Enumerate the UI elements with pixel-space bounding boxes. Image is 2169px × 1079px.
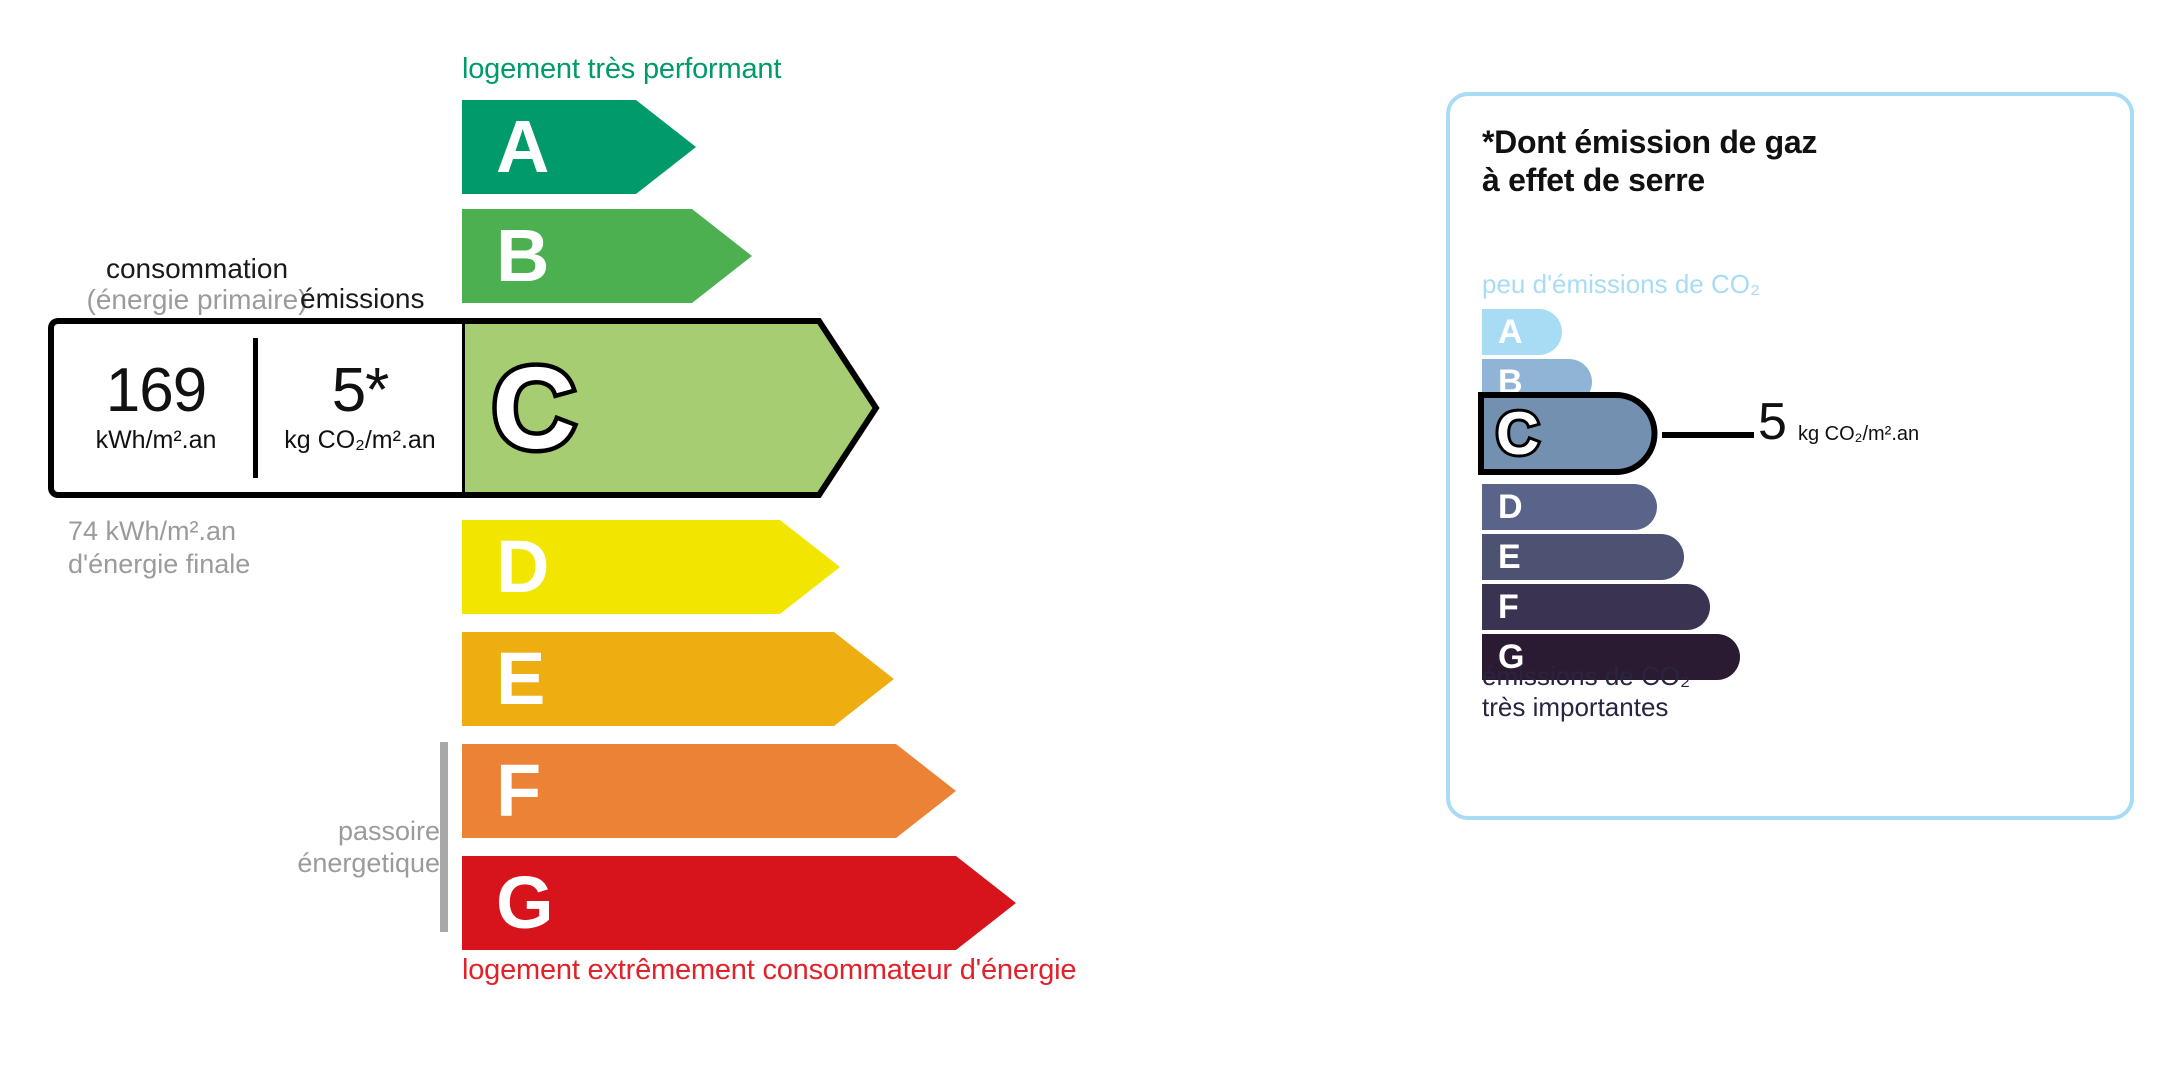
grade-row-a: A — [462, 100, 696, 194]
ghg-bottom-caption: émissions de CO₂ très importantes — [1482, 661, 1690, 722]
ghg-letter-a: A — [1498, 315, 1523, 349]
consumption-label-main: consommation — [106, 253, 288, 284]
ghg-bar-c-selected: C — [1478, 392, 1658, 475]
ghg-letter-c-selected: C — [1496, 404, 1539, 464]
final-energy-line1: 74 kWh/m².an — [68, 516, 236, 546]
grade-letter-g: G — [496, 866, 554, 940]
ghg-panel: *Dont émission de gaz à effet de serre p… — [1446, 92, 2134, 820]
emissions-value-cell: 5* kg CO₂/m².an — [258, 324, 462, 492]
top-caption-very-efficient: logement très performant — [462, 53, 781, 86]
grade-bar-e: E — [462, 632, 894, 726]
passoire-energetique-label: passoire énergetique — [190, 815, 440, 880]
ghg-bar-a: A — [1482, 309, 1562, 355]
ghg-letter-d: D — [1498, 490, 1523, 524]
grade-row-e: E — [462, 632, 894, 726]
grade-letter-d: D — [496, 530, 549, 604]
ghg-letter-e: E — [1498, 540, 1521, 574]
passoire-divider-rule — [440, 742, 448, 932]
grade-letter-c-selected: C — [492, 350, 576, 466]
ghg-panel-title: *Dont émission de gaz à effet de serre — [1482, 124, 1817, 200]
emissions-unit: kg CO₂/m².an — [284, 426, 435, 455]
passoire-line2: énergetique — [297, 848, 440, 878]
ghg-row-a: A — [1482, 309, 1562, 355]
grade-row-f: F — [462, 744, 956, 838]
grade-letter-e: E — [496, 642, 545, 716]
emissions-label: émissions — [300, 283, 424, 315]
ghg-row-e: E — [1482, 534, 1684, 580]
grade-bar-c-selected: C — [462, 318, 882, 498]
emissions-value: 5* — [332, 361, 389, 422]
consumption-unit: kWh/m².an — [96, 426, 217, 455]
ghg-bar-f: F — [1482, 584, 1710, 630]
ghg-row-d: D — [1482, 484, 1657, 530]
grade-bar-d: D — [462, 520, 840, 614]
ghg-title-line2: à effet de serre — [1482, 162, 1705, 198]
grade-letter-a: A — [496, 110, 549, 184]
ghg-title-line1: *Dont émission de gaz — [1482, 124, 1817, 160]
ghg-bar-e: E — [1482, 534, 1684, 580]
bottom-caption-high-consumption: logement extrêmement consommateur d'éner… — [462, 954, 1076, 987]
grade-bar-b: B — [462, 209, 752, 303]
final-energy-line2: d'énergie finale — [68, 549, 250, 579]
grade-row-g: G — [462, 856, 1016, 950]
grade-row-b: B — [462, 209, 752, 303]
ghg-letter-f: F — [1498, 590, 1519, 624]
consumption-label: consommation (énergie primaire) — [62, 253, 332, 316]
consumption-value: 169 — [106, 361, 206, 422]
grade-bar-f: F — [462, 744, 956, 838]
ghg-top-caption: peu d'émissions de CO₂ — [1482, 269, 1760, 300]
grade-bar-g: G — [462, 856, 1016, 950]
ghg-row-f: F — [1482, 584, 1710, 630]
ghg-bar-d: D — [1482, 484, 1657, 530]
energy-label-chart: logement très performant A B D E F G — [0, 0, 1420, 1079]
final-energy-note: 74 kWh/m².an d'énergie finale — [68, 515, 250, 581]
ghg-value: 5 — [1758, 396, 1787, 448]
ghg-leader-line — [1662, 432, 1754, 438]
ghg-unit: kg CO₂/m².an — [1798, 423, 1919, 446]
consumption-label-sub: (énergie primaire) — [87, 284, 308, 315]
passoire-line1: passoire — [338, 816, 440, 846]
grade-letter-b: B — [496, 219, 549, 293]
ghg-bottom-line2: très importantes — [1482, 692, 1668, 722]
consumption-value-cell: 169 kWh/m².an — [54, 324, 258, 492]
grade-bar-a: A — [462, 100, 696, 194]
grade-letter-f: F — [496, 754, 541, 828]
value-box: 169 kWh/m².an 5* kg CO₂/m².an — [48, 318, 462, 498]
grade-row-d: D — [462, 520, 840, 614]
ghg-bottom-line1: émissions de CO₂ — [1482, 661, 1690, 691]
